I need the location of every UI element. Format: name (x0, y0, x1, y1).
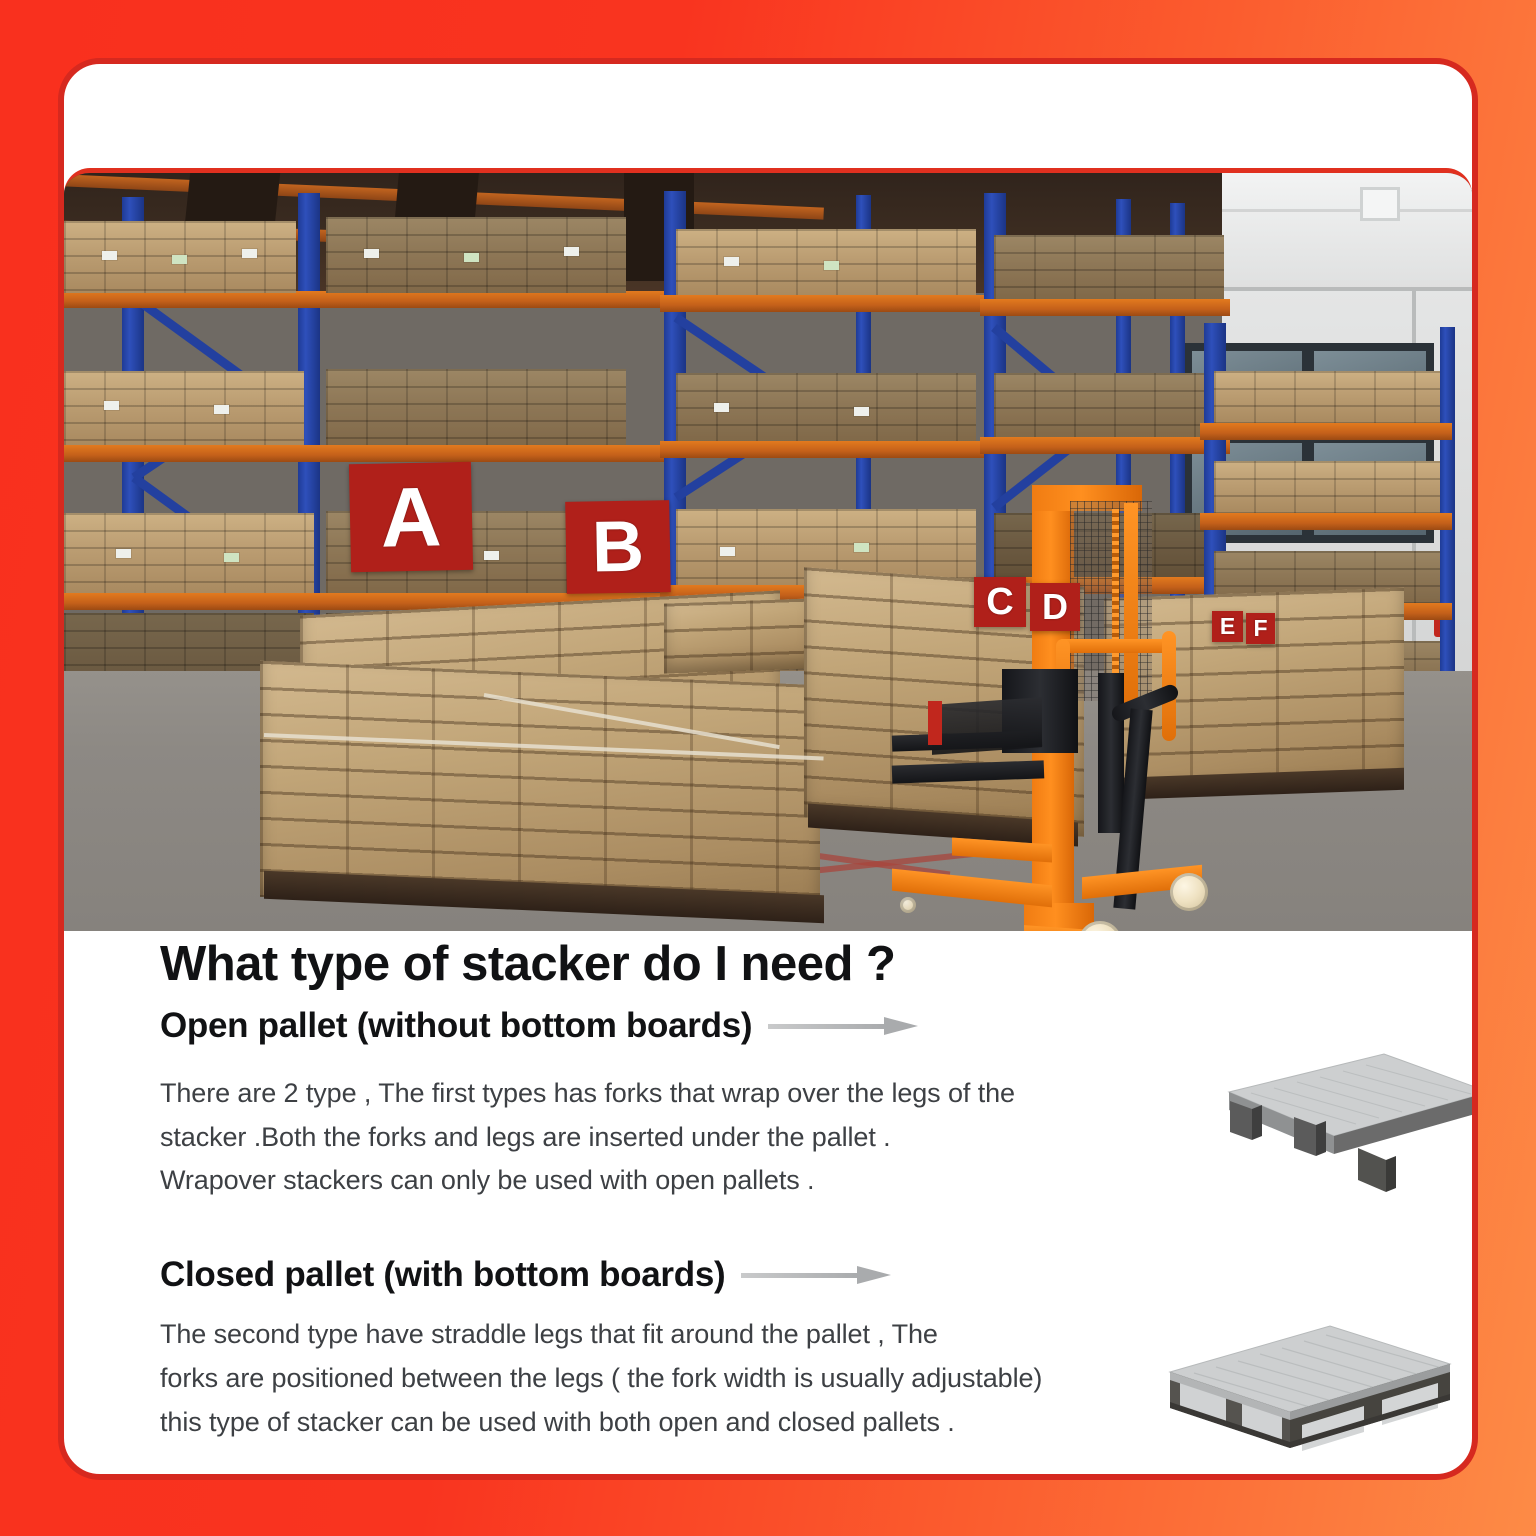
aisle-sign-a: A (349, 462, 473, 573)
warehouse-wall-top (1222, 173, 1472, 289)
wall-vent (1360, 187, 1400, 221)
pallet-load (64, 371, 304, 445)
carton-label (720, 547, 735, 556)
open-pallet-illustration (1134, 1044, 1478, 1194)
pallet-load (994, 235, 1224, 299)
rack-beam (64, 291, 684, 308)
aisle-sign-f: F (1246, 613, 1275, 644)
carton-label (242, 249, 257, 258)
stacker-handle-bar (1056, 639, 1176, 653)
carton-label (854, 543, 869, 552)
pallet-load (64, 513, 314, 593)
stacker-mast-guard (1070, 501, 1152, 701)
carton-label (214, 405, 229, 414)
stacker-caster (900, 897, 916, 913)
arrow-right-icon (768, 1020, 918, 1032)
subheading-open-pallet: Open pallet (without bottom boards) (160, 1006, 752, 1046)
carton-label (172, 255, 187, 264)
wall-seam (1222, 209, 1472, 212)
carton-label (484, 551, 499, 560)
carton-label (824, 261, 839, 270)
rack-beam (1200, 513, 1452, 530)
closed-pallet-illustration (1150, 1312, 1478, 1472)
stacker-wheel (1170, 873, 1208, 911)
pallet-stack (664, 598, 814, 673)
stacker-mast-rail (1124, 503, 1138, 713)
carton-label (464, 253, 479, 262)
carton-label (116, 549, 131, 558)
manual-pallet-stacker (892, 473, 1222, 931)
info-card: A B C D E F What type of stacker do I ne… (58, 58, 1478, 1480)
carton-label (854, 407, 869, 416)
arrow-shaft (768, 1024, 886, 1029)
rack-beam (64, 445, 684, 462)
carton-label (564, 247, 579, 256)
carton-label (364, 249, 379, 258)
fork-tip-marker (928, 701, 942, 745)
aisle-sign-b: B (565, 500, 671, 594)
pallet-load (1214, 461, 1440, 513)
warehouse-photo: A B C D E F (64, 168, 1472, 931)
arrow-shaft (741, 1273, 859, 1278)
subheading-closed-pallet: Closed pallet (with bottom boards) (160, 1255, 725, 1295)
wall-seam (1222, 287, 1472, 291)
fork-arm (892, 760, 1045, 783)
arrow-head (884, 1017, 918, 1035)
carton-label (714, 403, 729, 412)
aisle-sign-c: C (974, 577, 1026, 627)
aisle-sign-d: D (1030, 583, 1080, 631)
rack-beam (660, 441, 990, 458)
rack-beam (1200, 423, 1452, 440)
carton-label (724, 257, 739, 266)
pallet-load (326, 369, 626, 445)
arrow-right-icon (741, 1269, 891, 1281)
straddle-leg (892, 869, 1052, 908)
aisle-sign-e: E (1212, 611, 1243, 642)
carton-label (224, 553, 239, 562)
rack-beam (980, 299, 1230, 316)
pallet-load (994, 373, 1224, 437)
rack-beam (980, 437, 1230, 454)
rack-beam (660, 295, 990, 312)
carton-label (102, 251, 117, 260)
pallet-load (1214, 371, 1440, 423)
carton-label (104, 401, 119, 410)
fork-backrest (932, 697, 1042, 755)
hydraulic-cylinder (1098, 673, 1124, 833)
arrow-head (857, 1266, 891, 1284)
page-title: What type of stacker do I need ? (160, 936, 1376, 992)
